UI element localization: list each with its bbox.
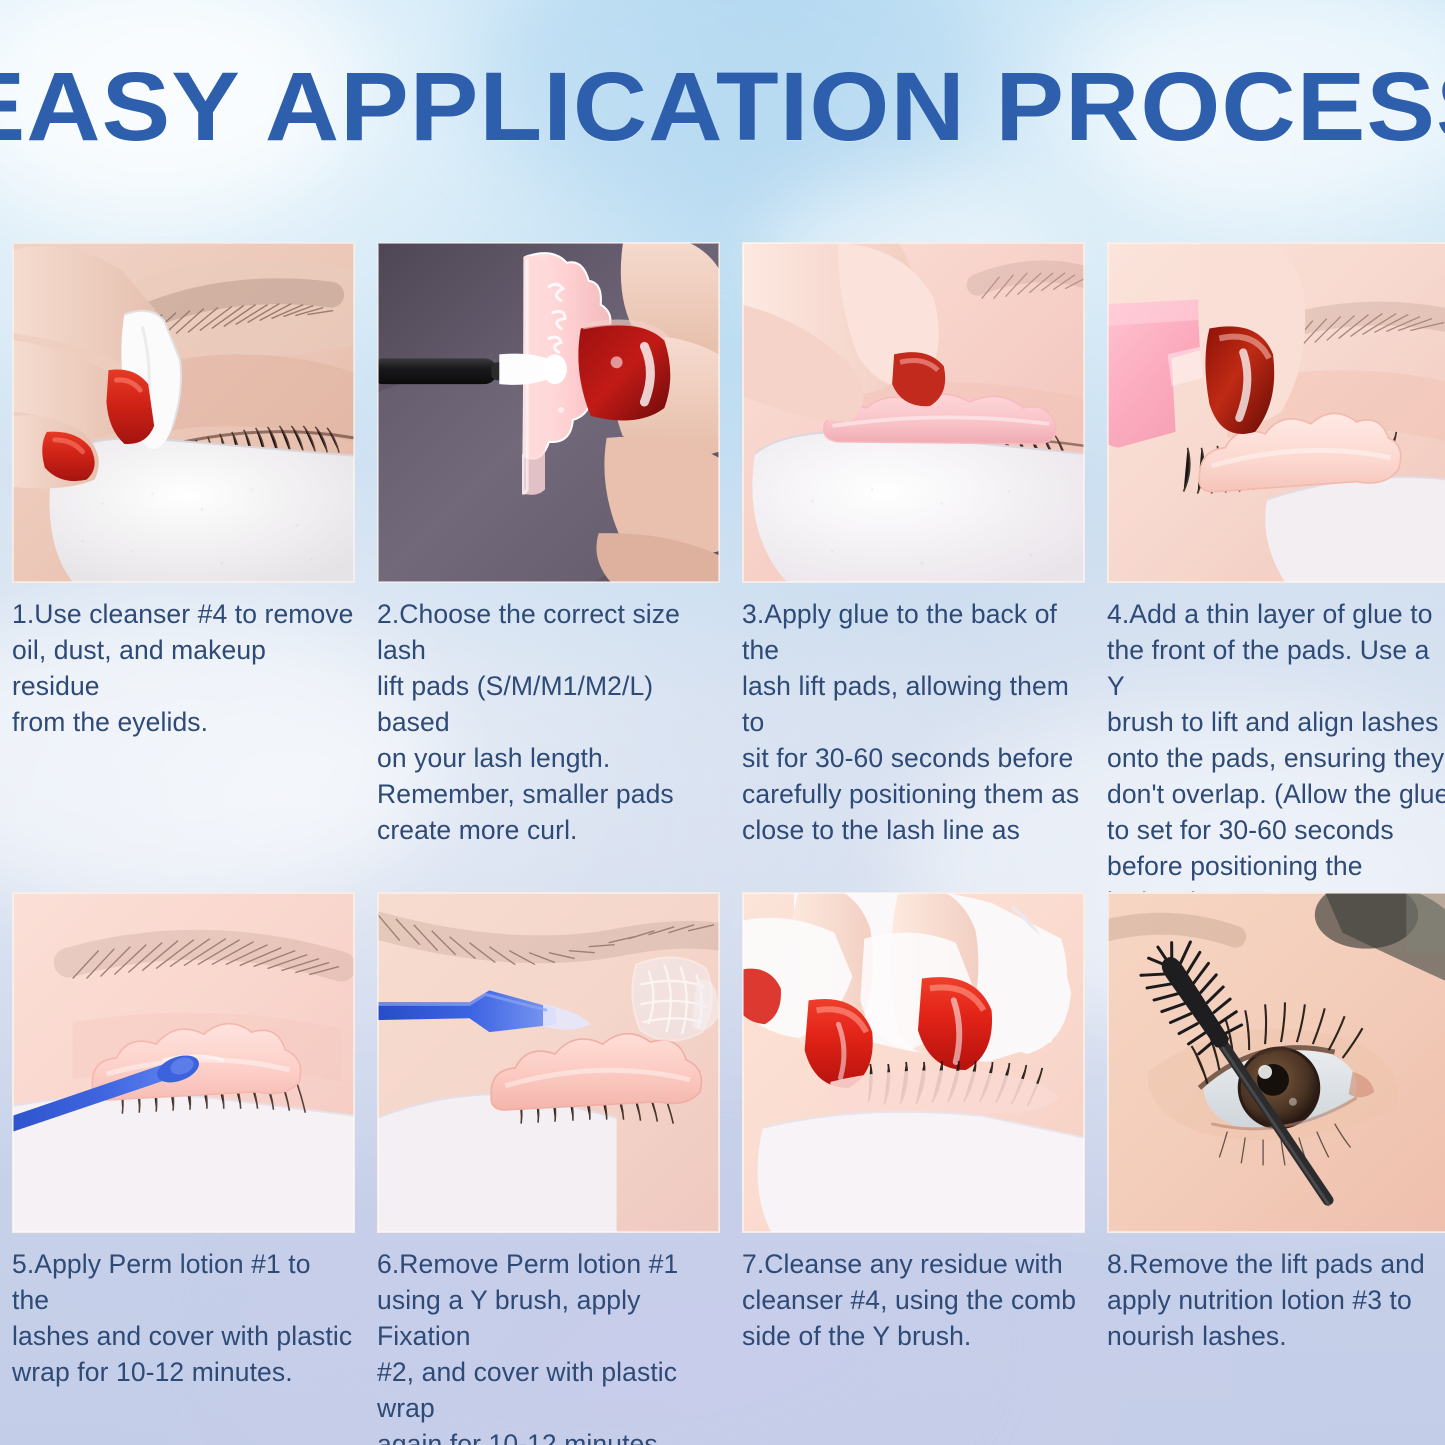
step-caption-3: 3.Apply glue to the back of the lash lif… (742, 596, 1085, 848)
photo-step-4-align-lashes-y-brush (1107, 242, 1445, 583)
photo-step-7-cleanse-residue (742, 892, 1085, 1233)
step-card-2: 2.Choose the correct size lash lift pads… (377, 242, 720, 920)
photo-step-2-choose-pad-size (377, 242, 720, 583)
step-caption-1: 1.Use cleanser #4 to remove oil, dust, a… (12, 596, 355, 740)
step-card-1: 1.Use cleanser #4 to remove oil, dust, a… (12, 242, 355, 920)
step-caption-5: 5.Apply Perm lotion #1 to the lashes and… (12, 1246, 355, 1390)
step-caption-8: 8.Remove the lift pads and apply nutriti… (1107, 1246, 1445, 1354)
steps-row-bottom: 5.Apply Perm lotion #1 to the lashes and… (0, 892, 1445, 1445)
step-card-4: 4.Add a thin layer of glue to the front … (1107, 242, 1445, 920)
step-card-5: 5.Apply Perm lotion #1 to the lashes and… (12, 892, 355, 1445)
step-caption-7: 7.Cleanse any residue with cleanser #4, … (742, 1246, 1085, 1354)
photo-step-1-cleanse-eyelid (12, 242, 355, 583)
photo-step-3-apply-glue-back (742, 242, 1085, 583)
page-title: EASY APPLICATION PROCESS (0, 58, 1445, 155)
step-card-3: 3.Apply glue to the back of the lash lif… (742, 242, 1085, 920)
steps-row-top: 1.Use cleanser #4 to remove oil, dust, a… (0, 242, 1445, 920)
photo-step-6-remove-lotion-apply-fixation (377, 892, 720, 1233)
step-caption-2: 2.Choose the correct size lash lift pads… (377, 596, 720, 848)
photo-step-8-apply-nutrition-lotion (1107, 892, 1445, 1233)
photo-step-5-apply-perm-lotion (12, 892, 355, 1233)
step-caption-4: 4.Add a thin layer of glue to the front … (1107, 596, 1445, 920)
step-card-6: 6.Remove Perm lotion #1 using a Y brush,… (377, 892, 720, 1445)
step-caption-6: 6.Remove Perm lotion #1 using a Y brush,… (377, 1246, 720, 1445)
step-card-8: 8.Remove the lift pads and apply nutriti… (1107, 892, 1445, 1445)
poster-canvas: EASY APPLICATION PROCESS (0, 0, 1445, 1445)
step-card-7: 7.Cleanse any residue with cleanser #4, … (742, 892, 1085, 1445)
